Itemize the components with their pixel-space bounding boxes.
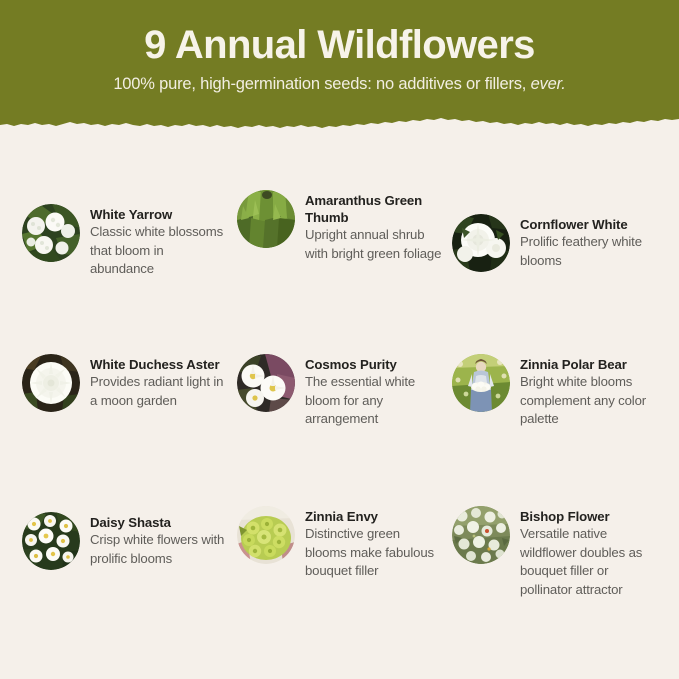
wildflower-item-bishop-flower[interactable]: Bishop Flower Versatile native wildflowe…	[452, 468, 659, 626]
wildflower-grid: White Yarrow Classic white blossoms that…	[0, 152, 679, 626]
item-description: Crisp white flowers with prolific blooms	[90, 531, 229, 568]
white-yarrow-photo-icon	[22, 204, 80, 262]
wildflower-item-white-duchess-aster[interactable]: White Duchess Aster Provides radiant lig…	[22, 310, 229, 468]
item-description: The essential white bloom for any arrang…	[305, 373, 444, 429]
thumbnail-wrapper	[22, 512, 80, 570]
item-description: Versatile native wildflower doubles as b…	[520, 525, 659, 599]
thumbnail-wrapper	[22, 354, 80, 412]
item-name: Bishop Flower	[520, 508, 659, 525]
torn-paper-edge-icon	[0, 111, 679, 136]
item-text: Cornflower White Prolific feathery white…	[520, 214, 659, 270]
item-description: Upright annual shrub with bright green f…	[305, 226, 444, 263]
item-text: Bishop Flower Versatile native wildflowe…	[520, 506, 659, 599]
item-text: Amaranthus Green Thumb Upright annual sh…	[305, 190, 444, 263]
item-text: Cosmos Purity The essential white bloom …	[305, 354, 444, 429]
item-text: Zinnia Polar Bear Bright white blooms co…	[520, 354, 659, 429]
item-text: Daisy Shasta Crisp white flowers with pr…	[90, 512, 229, 568]
item-text: Zinnia Envy Distinctive green blooms mak…	[305, 506, 444, 581]
item-name: Daisy Shasta	[90, 514, 229, 531]
header-banner: 9 Annual Wildflowers 100% pure, high-ger…	[0, 0, 679, 136]
item-description: Provides radiant light in a moon garden	[90, 373, 229, 410]
wildflower-item-zinnia-polar-bear[interactable]: Zinnia Polar Bear Bright white blooms co…	[452, 310, 659, 468]
bishop-flower-photo-icon	[452, 506, 510, 564]
cosmos-purity-photo-icon	[237, 354, 295, 412]
zinnia-polar-bear-photo-icon	[452, 354, 510, 412]
item-name: Zinnia Polar Bear	[520, 356, 659, 373]
daisy-shasta-photo-icon	[22, 512, 80, 570]
thumbnail-wrapper	[237, 354, 295, 412]
thumbnail-wrapper	[452, 354, 510, 412]
thumbnail-wrapper	[237, 190, 295, 248]
cornflower-white-photo-icon	[452, 214, 510, 272]
thumbnail-wrapper	[452, 506, 510, 564]
item-name: Amaranthus Green Thumb	[305, 192, 444, 226]
wildflower-item-white-yarrow[interactable]: White Yarrow Classic white blossoms that…	[22, 152, 229, 310]
item-name: Cornflower White	[520, 216, 659, 233]
item-description: Prolific feathery white blooms	[520, 233, 659, 270]
subtitle-text: 100% pure, high-germination seeds: no ad…	[113, 75, 526, 93]
subtitle-emphasis: ever.	[531, 75, 566, 93]
thumbnail-wrapper	[22, 204, 80, 262]
item-name: White Duchess Aster	[90, 356, 229, 373]
wildflower-item-zinnia-envy[interactable]: Zinnia Envy Distinctive green blooms mak…	[237, 468, 444, 626]
wildflower-item-cosmos-purity[interactable]: Cosmos Purity The essential white bloom …	[237, 310, 444, 468]
item-text: White Yarrow Classic white blossoms that…	[90, 204, 229, 279]
thumbnail-wrapper	[237, 506, 295, 564]
zinnia-envy-photo-icon	[237, 506, 295, 564]
item-name: Zinnia Envy	[305, 508, 444, 525]
thumbnail-wrapper	[452, 214, 510, 272]
item-name: Cosmos Purity	[305, 356, 444, 373]
infographic-page: 9 Annual Wildflowers 100% pure, high-ger…	[0, 0, 679, 679]
page-title: 9 Annual Wildflowers	[0, 0, 679, 68]
item-text: White Duchess Aster Provides radiant lig…	[90, 354, 229, 410]
item-description: Distinctive green blooms make fabulous b…	[305, 525, 444, 581]
white-duchess-aster-photo-icon	[22, 354, 80, 412]
header-content: 9 Annual Wildflowers 100% pure, high-ger…	[0, 0, 679, 94]
wildflower-item-amaranthus-green-thumb[interactable]: Amaranthus Green Thumb Upright annual sh…	[237, 152, 444, 310]
item-description: Bright white blooms complement any color…	[520, 373, 659, 429]
page-subtitle: 100% pure, high-germination seeds: no ad…	[0, 68, 679, 94]
wildflower-item-cornflower-white[interactable]: Cornflower White Prolific feathery white…	[452, 152, 659, 310]
item-name: White Yarrow	[90, 206, 229, 223]
wildflower-item-daisy-shasta[interactable]: Daisy Shasta Crisp white flowers with pr…	[22, 468, 229, 626]
amaranthus-green-thumb-photo-icon	[237, 190, 295, 248]
item-description: Classic white blossoms that bloom in abu…	[90, 223, 229, 279]
